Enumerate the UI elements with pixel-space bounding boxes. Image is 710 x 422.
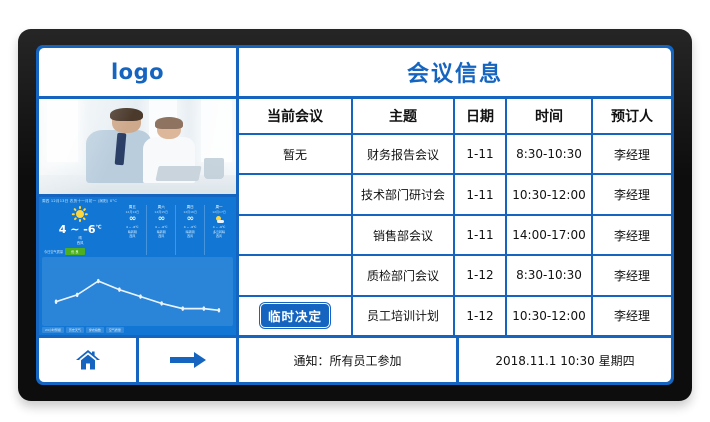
logo-text: logo: [111, 60, 164, 84]
next-button[interactable]: [139, 338, 236, 382]
cell-time: 10:30-12:00: [507, 297, 591, 335]
weather-header-line: 周四 12月13日 农历十一月初一 (润阳) 0°C: [39, 197, 236, 205]
sun-icon: [72, 206, 88, 222]
current-meeting-spacer: [239, 175, 351, 213]
wind-icon: ∞: [118, 214, 146, 225]
column-header-subject: 主题: [353, 99, 453, 133]
cell-booker: 李经理: [593, 297, 671, 335]
home-icon: [75, 348, 101, 372]
cell-date: 1-11: [455, 175, 505, 213]
air-quality-label: 今日空气质量: [44, 249, 63, 254]
column-header-booker: 预订人: [593, 99, 671, 133]
forecast-day: 周六 12月15日 ∞ 4 ~ -6℃ 晴转阴 西风: [146, 205, 175, 255]
wind-icon: ∞: [147, 214, 175, 225]
cell-subject: 销售部会议: [353, 216, 453, 254]
table-header-row: 当前会议 主题 日期 时间 预订人: [239, 99, 671, 133]
current-meeting-spacer: [239, 256, 351, 294]
cell-date: 1-12: [455, 297, 505, 335]
table-row[interactable]: 销售部会议 1-11 14:00-17:00 李经理: [239, 216, 671, 254]
weather-temperature: 4 ~ -6℃: [59, 223, 102, 236]
current-meeting-spacer: [239, 216, 351, 254]
arrow-right-icon: [168, 350, 208, 370]
weather-tab[interactable]: 穿衣指数: [86, 327, 104, 333]
home-button[interactable]: [39, 338, 136, 382]
table-row[interactable]: 暂无 财务报告会议 1-11 8:30-10:30 李经理: [239, 135, 671, 173]
page-title: 会议信息: [239, 48, 671, 96]
office-photo: [39, 99, 236, 194]
temperature-trend-chart: [42, 257, 233, 326]
cell-booker: 李经理: [593, 135, 671, 173]
column-header-time: 时间: [507, 99, 591, 133]
column-header-current: 当前会议: [239, 99, 351, 133]
cell-subject: 员工培训计划: [353, 297, 453, 335]
notice-text: 通知：所有员工参加: [239, 338, 456, 382]
logo-panel: logo: [39, 48, 236, 96]
table-row[interactable]: 临时决定 员工培训计划 1-12 10:30-12:00 李经理: [239, 297, 671, 335]
main-content: logo: [39, 48, 671, 335]
weather-widget[interactable]: 周四 12月13日 农历十一月初一 (润阳) 0°C 4: [39, 197, 236, 335]
cell-time: 8:30-10:30: [507, 256, 591, 294]
cell-subject: 财务报告会议: [353, 135, 453, 173]
footer-bar: 通知：所有员工参加 2018.11.1 10:30 星期四: [39, 338, 671, 382]
weather-tab[interactable]: 空气质量: [106, 327, 124, 333]
cell-time: 10:30-12:00: [507, 175, 591, 213]
cell-time: 14:00-17:00: [507, 216, 591, 254]
cell-date: 1-11: [455, 216, 505, 254]
table-row[interactable]: 质检部门会议 1-12 8:30-10:30 李经理: [239, 256, 671, 294]
cell-booker: 李经理: [593, 256, 671, 294]
weather-today: 4 ~ -6℃ 晴 西风 今日空气质量 优 良: [42, 205, 118, 255]
forecast-day: 周日 12月16日 ∞ 4 ~ -6℃ 晴转阴 西风: [175, 205, 204, 255]
cell-booker: 李经理: [593, 216, 671, 254]
datetime-display: 2018.11.1 10:30 星期四: [459, 338, 671, 382]
temporary-decision-cell[interactable]: 临时决定: [239, 297, 351, 335]
weather-tab[interactable]: 24小时预报: [42, 327, 64, 333]
cell-booker: 李经理: [593, 175, 671, 213]
display-screen: logo: [36, 45, 674, 385]
cell-subject: 质检部门会议: [353, 256, 453, 294]
forecast-day: 周一 12月17日 4 ~ -6℃ 多云转晴 西风: [204, 205, 233, 255]
cell-date: 1-12: [455, 256, 505, 294]
sun-cloud-icon: [205, 214, 233, 225]
screenshot-root: logo: [0, 0, 710, 422]
temporary-decision-badge[interactable]: 临时决定: [260, 303, 330, 328]
air-quality-value: 优 良: [65, 248, 84, 255]
forecast-day: 周五 12月14日 ∞ 4 ~ -6℃ 晴转阴 西风: [118, 205, 146, 255]
cell-subject: 技术部门研讨会: [353, 175, 453, 213]
cell-date: 1-11: [455, 135, 505, 173]
weather-tab[interactable]: 历史天气: [66, 327, 84, 333]
meeting-table: 当前会议 主题 日期 时间 预订人 暂无 财务报告会议 1-11 8:30-10…: [239, 99, 671, 335]
current-meeting-value: 暂无: [239, 135, 351, 173]
wind-icon: ∞: [176, 214, 204, 225]
cell-time: 8:30-10:30: [507, 135, 591, 173]
weather-wind: 西风: [77, 241, 84, 246]
meeting-panel: 会议信息 当前会议 主题 日期 时间 预订人 暂无 财务报告会议 1-11: [239, 48, 671, 335]
table-row[interactable]: 技术部门研讨会 1-11 10:30-12:00 李经理: [239, 175, 671, 213]
weather-forecast-list: 周五 12月14日 ∞ 4 ~ -6℃ 晴转阴 西风 周六 12月15日 ∞: [118, 205, 233, 255]
weather-tabs[interactable]: 24小时预报 历史天气 穿衣指数 空气质量: [39, 327, 236, 335]
column-header-date: 日期: [455, 99, 505, 133]
sidebar: logo: [39, 48, 236, 335]
